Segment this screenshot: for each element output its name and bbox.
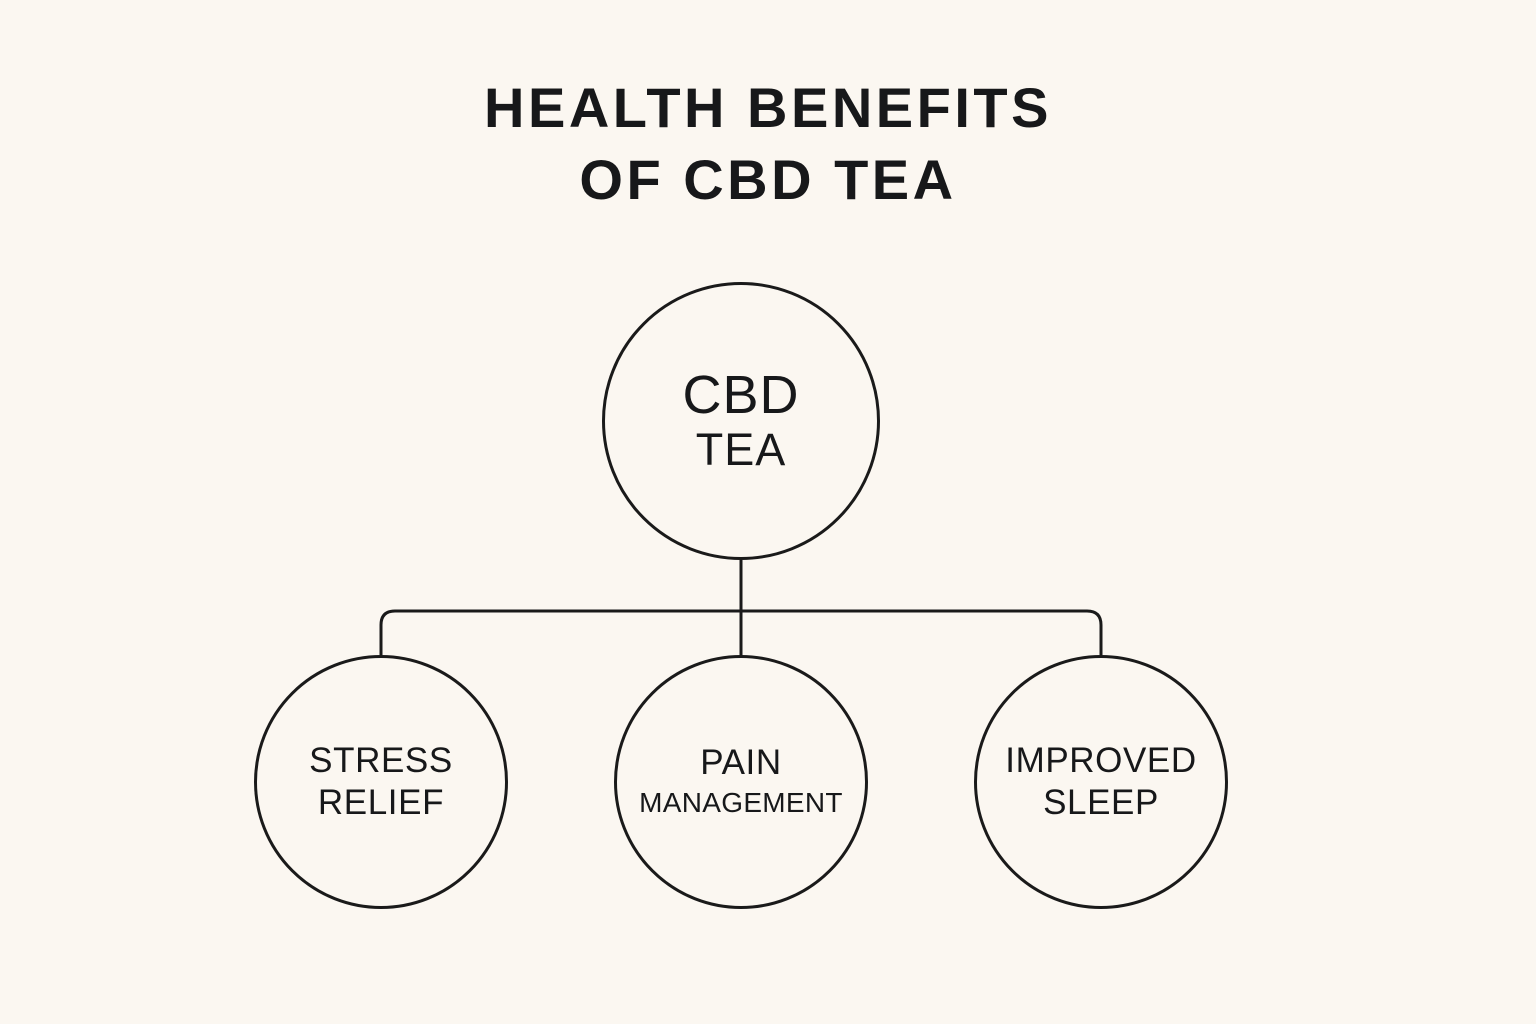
- node-stress-relief-line-2: RELIEF: [318, 782, 444, 824]
- node-stress-relief[interactable]: STRESS RELIEF: [254, 655, 508, 909]
- node-stress-relief-line-1: STRESS: [309, 740, 453, 782]
- node-pain-management-line-2: MANAGEMENT: [639, 784, 843, 822]
- node-improved-sleep[interactable]: IMPROVED SLEEP: [974, 655, 1228, 909]
- page-title-line-1: HEALTH BENEFITS: [0, 72, 1536, 144]
- connector-bus: [381, 611, 1101, 655]
- node-pain-management-line-1: PAIN: [700, 742, 782, 784]
- node-improved-sleep-line-2: SLEEP: [1043, 782, 1159, 824]
- node-improved-sleep-line-1: IMPROVED: [1005, 740, 1197, 782]
- node-cbd-tea-line-2: TEA: [696, 424, 787, 476]
- diagram-canvas: HEALTH BENEFITS OF CBD TEA CBD TEA STRES…: [0, 0, 1536, 1024]
- node-pain-management[interactable]: PAIN MANAGEMENT: [614, 655, 868, 909]
- page-title: HEALTH BENEFITS OF CBD TEA: [0, 72, 1536, 216]
- page-title-line-2: OF CBD TEA: [0, 144, 1536, 216]
- node-cbd-tea-line-1: CBD: [682, 366, 799, 424]
- node-cbd-tea[interactable]: CBD TEA: [602, 282, 880, 560]
